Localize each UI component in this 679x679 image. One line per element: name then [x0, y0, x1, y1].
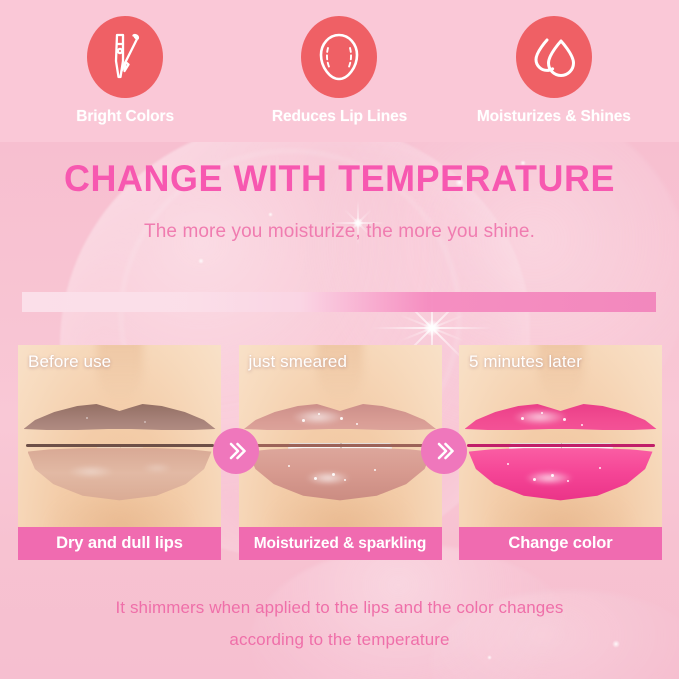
headline-block: CHANGE WITH TEMPERATURE The more you moi… [0, 160, 679, 243]
panel-caption-label: Moisturized & sparkling [239, 527, 442, 560]
footer-description: It shimmers when applied to the lips and… [0, 592, 679, 656]
feature-item-bright-colors: Bright Colors [26, 16, 224, 126]
feature-label: Moisturizes & Shines [477, 108, 631, 126]
step-arrow-badge-1 [213, 428, 259, 474]
sparkle-dot [198, 258, 204, 264]
comparison-panel: 5 minutes later Change color [459, 345, 662, 560]
feature-badge-circle [87, 16, 163, 98]
footer-line-2: according to the temperature [0, 624, 679, 656]
comparison-panel-group: Before use Dry and dull lips [18, 345, 662, 560]
double-chevron-right-icon [434, 440, 454, 462]
comparison-panel: Before use Dry and dull lips [18, 345, 221, 560]
panel-tag-label: 5 minutes later [469, 352, 582, 372]
lips-outline-icon [316, 31, 362, 83]
water-droplets-icon [530, 33, 578, 81]
lip-gloss-wand-icon [103, 31, 147, 83]
double-chevron-right-icon [226, 440, 246, 462]
product-infographic-poster: Bright Colors Reduces Lip Lines [0, 0, 679, 679]
feature-label: Bright Colors [76, 108, 174, 126]
feature-strip: Bright Colors Reduces Lip Lines [0, 0, 679, 142]
feature-item-moisturizes-shines: Moisturizes & Shines [455, 16, 653, 126]
panel-caption-label: Change color [459, 527, 662, 560]
panel-caption-label: Dry and dull lips [18, 527, 221, 560]
comparison-panel: just smeared Moisturized & sparkling [239, 345, 442, 560]
feature-badge-circle [516, 16, 592, 98]
footer-line-1: It shimmers when applied to the lips and… [0, 592, 679, 624]
page-subtitle: The more you moisturize, the more you sh… [0, 221, 679, 243]
lips-photo-five-minutes-later [459, 345, 662, 527]
panel-tag-label: Before use [28, 352, 111, 372]
lips-photo-just-smeared [239, 345, 442, 527]
feature-label: Reduces Lip Lines [272, 108, 407, 126]
panel-tag-label: just smeared [249, 352, 348, 372]
feature-badge-circle [301, 16, 377, 98]
page-title: CHANGE WITH TEMPERATURE [10, 160, 669, 199]
step-arrow-badge-2 [421, 428, 467, 474]
gradient-divider-bar [22, 292, 656, 312]
lips-photo-before-use [18, 345, 221, 527]
feature-item-reduces-lip-lines: Reduces Lip Lines [240, 16, 438, 126]
